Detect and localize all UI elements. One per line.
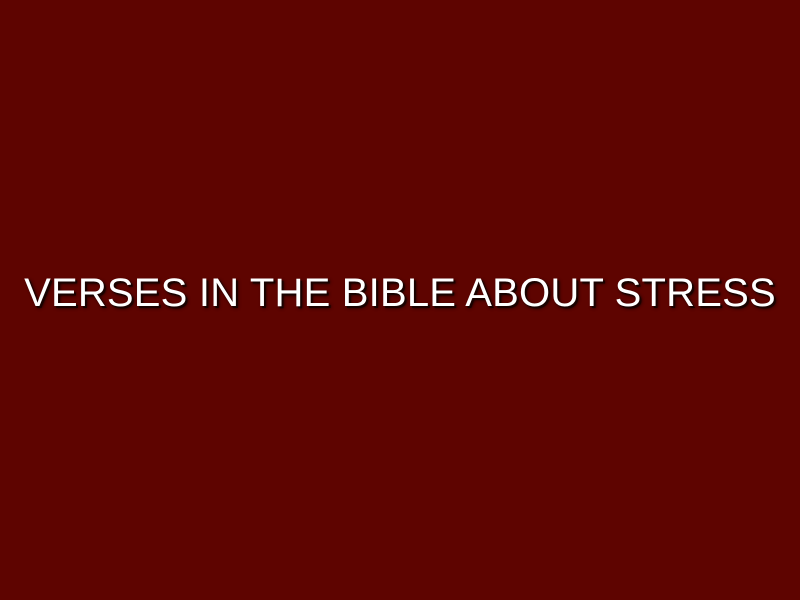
featured-image-card: VERSES IN THE BIBLE ABOUT STRESS: [0, 0, 800, 600]
title-block: VERSES IN THE BIBLE ABOUT STRESS: [0, 269, 800, 317]
page-title: VERSES IN THE BIBLE ABOUT STRESS: [24, 269, 776, 317]
